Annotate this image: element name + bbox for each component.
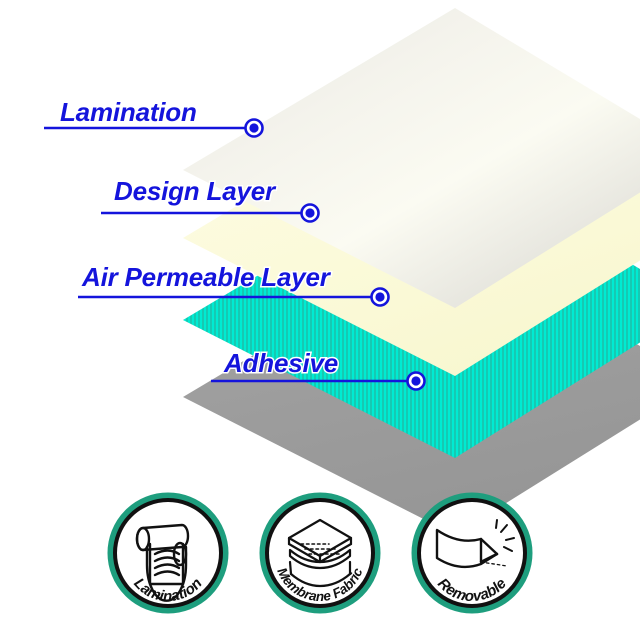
badge-membrane-fabric[interactable]: Membrane Fabric: [259, 492, 381, 614]
callout-dot-core-adhesive[interactable]: [411, 376, 420, 385]
callout-dot-core-lamination[interactable]: [249, 123, 258, 132]
callout-dot-core-design-layer[interactable]: [305, 208, 314, 217]
callout-dot-core-air-permeable-layer[interactable]: [375, 292, 384, 301]
badge-removable[interactable]: Removable: [411, 492, 533, 614]
badge-lamination[interactable]: Lamination: [107, 492, 229, 614]
layered-material-diagram: Lamination Design Layer Air Permeable La…: [0, 0, 640, 640]
feature-badges: Lamination: [0, 492, 640, 622]
